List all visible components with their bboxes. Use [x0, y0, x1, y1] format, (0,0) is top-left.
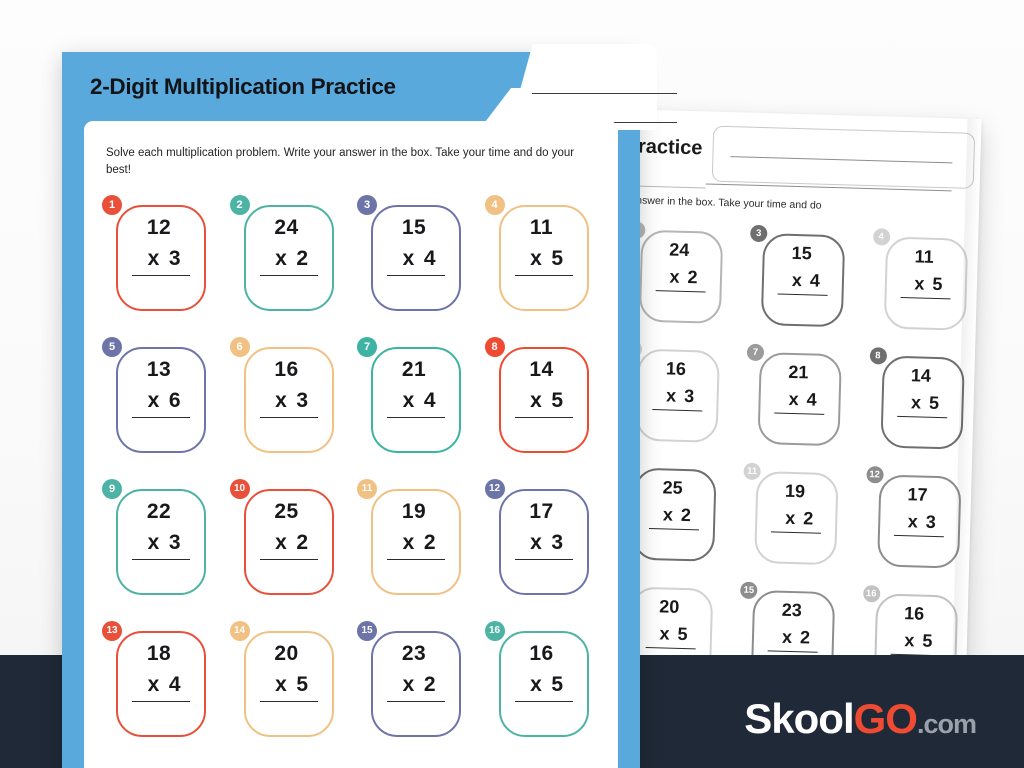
- multiply-sign-icon: x: [275, 531, 287, 554]
- logo-text-go: GO: [854, 695, 917, 742]
- background-multiplier-row: x5: [645, 623, 696, 649]
- multiplier: 4: [424, 389, 436, 412]
- background-multiplier: 5: [677, 624, 688, 644]
- multiplicand: 12: [147, 216, 175, 240]
- problem-number-badge: 13: [102, 621, 122, 641]
- problem-cell: 24x22: [226, 195, 354, 315]
- instructions-text: Solve each multiplication problem. Write…: [106, 145, 576, 178]
- multiplier-row: x5: [515, 247, 573, 276]
- problem-number-badge: 11: [357, 479, 377, 499]
- problem-expression: 16x5: [499, 631, 589, 737]
- multiplier-row: x4: [387, 389, 445, 418]
- background-multiplicand: 15: [791, 243, 816, 265]
- multiply-sign-icon: x: [148, 247, 160, 270]
- multiplier: 3: [169, 531, 181, 554]
- background-multiplier-row: x2: [771, 507, 822, 533]
- multiplier: 2: [296, 531, 308, 554]
- problem-expression: 25x2: [244, 489, 334, 595]
- multiplicand: 17: [529, 500, 557, 524]
- logo-text-com: .com: [917, 709, 976, 739]
- multiplicand: 18: [147, 642, 175, 666]
- background-multiplier-row: x4: [778, 270, 829, 296]
- worksheet-body-card: Solve each multiplication problem. Write…: [84, 121, 618, 768]
- multiplicand: 23: [402, 642, 430, 666]
- problem-expression: 23x2: [371, 631, 461, 737]
- background-multiply-sign-icon: x: [782, 627, 793, 647]
- background-multiply-sign-icon: x: [904, 630, 915, 650]
- background-multiply-sign-icon: x: [911, 392, 922, 412]
- multiply-sign-icon: x: [275, 389, 287, 412]
- problem-cell: 19x211: [353, 479, 481, 599]
- problem-number-badge: 4: [485, 195, 505, 215]
- problem-number-badge: 15: [357, 621, 377, 641]
- background-problem-expression: 25x2: [632, 468, 717, 562]
- background-multiplier: 5: [922, 631, 933, 651]
- background-problem-expression: 24x2: [638, 230, 723, 324]
- background-multiplier: 2: [681, 505, 692, 525]
- background-multiplier-row: x5: [890, 630, 941, 656]
- problem-cell: 12x31: [98, 195, 226, 315]
- background-multiplier: 5: [932, 274, 943, 294]
- background-multiplier-row: x4: [774, 388, 825, 414]
- multiply-sign-icon: x: [148, 531, 160, 554]
- multiplier: 5: [551, 673, 563, 696]
- multiply-sign-icon: x: [403, 531, 415, 554]
- problem-cell: 25x210: [226, 479, 354, 599]
- multiply-sign-icon: x: [530, 247, 542, 270]
- problem-expression: 11x5: [499, 205, 589, 311]
- multiplicand: 20: [274, 642, 302, 666]
- background-multiply-sign-icon: x: [792, 270, 803, 290]
- problem-number-badge: 12: [485, 479, 505, 499]
- problem-expression: 19x2: [371, 489, 461, 595]
- multiplier: 3: [551, 531, 563, 554]
- background-problem-cell: 23x215: [735, 581, 860, 664]
- multiplier: 2: [424, 531, 436, 554]
- multiplier-row: x3: [260, 389, 318, 418]
- background-problem-expression: 15x4: [761, 233, 846, 327]
- multiply-sign-icon: x: [403, 247, 415, 270]
- multiply-sign-icon: x: [275, 247, 287, 270]
- background-problem-expression: 23x2: [751, 590, 836, 665]
- background-multiplier-row: x5: [897, 392, 948, 418]
- background-problem-cell: 19x211: [738, 463, 863, 566]
- background-multiply-sign-icon: x: [788, 389, 799, 409]
- multiply-sign-icon: x: [148, 673, 160, 696]
- background-multiplier-row: x3: [652, 385, 703, 411]
- background-multiplier: 2: [687, 267, 698, 287]
- problem-cell: 20x514: [226, 621, 354, 741]
- multiplier: 2: [424, 673, 436, 696]
- worksheet-header: 2-Digit Multiplication Practice: [62, 52, 640, 130]
- background-problem-expression: 17x3: [877, 474, 962, 568]
- problem-cell: 11x54: [481, 195, 609, 315]
- problem-number-badge: 6: [230, 337, 250, 357]
- multiplicand: 11: [530, 216, 557, 240]
- background-multiplicand: 11: [914, 246, 938, 268]
- background-problem-number-badge: 12: [866, 466, 883, 483]
- background-multiplicand: 25: [662, 477, 687, 499]
- background-multiplier: 5: [929, 393, 940, 413]
- multiplier-row: x2: [387, 673, 445, 702]
- problem-expression: 22x3: [116, 489, 206, 595]
- problem-cell: 16x516: [481, 621, 609, 741]
- multiplier-row: x5: [515, 673, 573, 702]
- problem-number-badge: 2: [230, 195, 250, 215]
- problem-cell: 23x215: [353, 621, 481, 741]
- problem-number-badge: 14: [230, 621, 250, 641]
- multiplier: 5: [551, 389, 563, 412]
- background-instructions: ion problem. Write your answer in the bo…: [606, 191, 981, 217]
- multiply-sign-icon: x: [530, 389, 542, 412]
- multiplier: 2: [296, 247, 308, 270]
- problem-expression: 16x3: [244, 347, 334, 453]
- background-problem-expression: 11x5: [883, 237, 968, 331]
- multiplier-row: x5: [260, 673, 318, 702]
- background-multiply-sign-icon: x: [907, 511, 918, 531]
- problem-cell: 13x65: [98, 337, 226, 457]
- problem-number-badge: 1: [102, 195, 122, 215]
- multiply-sign-icon: x: [530, 531, 542, 554]
- multiply-sign-icon: x: [275, 673, 287, 696]
- background-problem-number-badge: 16: [863, 585, 880, 602]
- multiplicand: 14: [529, 358, 557, 382]
- multiplier-row: x3: [132, 247, 190, 276]
- problem-expression: 13x6: [116, 347, 206, 453]
- problem-expression: 17x3: [499, 489, 589, 595]
- background-multiplicand: 24: [669, 239, 694, 261]
- page-title: 2-Digit Multiplication Practice: [90, 74, 396, 100]
- problem-cell: 15x43: [353, 195, 481, 315]
- problem-expression: 14x5: [499, 347, 589, 453]
- background-multiplier: 2: [800, 627, 811, 647]
- name-field-line[interactable]: [532, 93, 677, 94]
- multiply-sign-icon: x: [148, 389, 160, 412]
- background-multiplicand: 16: [666, 358, 691, 380]
- background-problem-expression: 21x4: [757, 352, 842, 446]
- background-multiplicand: 23: [781, 600, 806, 622]
- background-multiplier-row: x2: [768, 626, 819, 652]
- problem-number-badge: 16: [485, 621, 505, 641]
- multiply-sign-icon: x: [530, 673, 542, 696]
- multiplier-row: x5: [515, 389, 573, 418]
- problem-expression: 18x4: [116, 631, 206, 737]
- multiplicand: 25: [274, 500, 302, 524]
- background-problem-cell: 11x54: [867, 228, 981, 331]
- background-multiplier: 2: [803, 508, 814, 528]
- background-multiplier-row: x2: [655, 266, 706, 292]
- multiplier: 5: [296, 673, 308, 696]
- background-multiplicand: 16: [904, 603, 929, 625]
- background-multiplier: 4: [810, 270, 821, 290]
- multiplier-row: x4: [387, 247, 445, 276]
- multiplicand: 13: [147, 358, 175, 382]
- problem-expression: 21x4: [371, 347, 461, 453]
- multiplicand: 16: [529, 642, 557, 666]
- problem-cell: 22x39: [98, 479, 226, 599]
- background-problem-cell: 24x22: [622, 221, 747, 324]
- multiplier: 6: [169, 389, 181, 412]
- multiplicand: 24: [274, 216, 302, 240]
- background-problem-expression: 20x5: [628, 587, 713, 665]
- background-multiplicand: 19: [785, 481, 810, 503]
- problem-cell: 17x312: [481, 479, 609, 599]
- multiplier-row: x4: [132, 673, 190, 702]
- background-multiply-sign-icon: x: [659, 623, 670, 643]
- background-problem-number-badge: 4: [872, 228, 889, 245]
- background-multiplicand: 20: [659, 596, 684, 618]
- background-worksheet-sheet: tiplication Practice ion problem. Write …: [606, 109, 981, 665]
- background-multiply-sign-icon: x: [914, 273, 925, 293]
- background-problem-expression: 19x2: [754, 471, 839, 565]
- multiplicand: 21: [402, 358, 430, 382]
- problem-expression: 12x3: [116, 205, 206, 311]
- multiplier-row: x2: [260, 247, 318, 276]
- problem-cell: 16x36: [226, 337, 354, 457]
- background-problem-cell: 15x43: [745, 225, 870, 328]
- problem-expression: 20x5: [244, 631, 334, 737]
- multiplicand: 22: [147, 500, 175, 524]
- background-multiply-sign-icon: x: [663, 504, 674, 524]
- background-multiplier: 4: [806, 389, 817, 409]
- background-problem-expression: 14x5: [880, 355, 965, 449]
- problem-number-badge: 7: [357, 337, 377, 357]
- multiply-sign-icon: x: [403, 673, 415, 696]
- background-multiplicand: 17: [907, 484, 932, 506]
- multiplier-row: x3: [515, 531, 573, 560]
- background-multiplicand: 21: [788, 362, 813, 384]
- background-multiplier: 3: [925, 512, 936, 532]
- problem-cell: 18x413: [98, 621, 226, 741]
- multiplier: 5: [551, 247, 563, 270]
- background-multiplier-row: x5: [900, 273, 951, 299]
- problem-cell: 14x58: [481, 337, 609, 457]
- multiplier-row: x2: [387, 531, 445, 560]
- main-worksheet-sheet: 2-Digit Multiplication Practice Solve ea…: [62, 52, 640, 768]
- background-multiplier-row: x3: [893, 511, 944, 537]
- background-problem-grid: 12x3124x2215x4311x5413x6516x3621x4714x58…: [606, 218, 981, 665]
- background-problem-cell: 21x47: [741, 344, 866, 447]
- multiplier-row: x3: [132, 531, 190, 560]
- problem-number-badge: 3: [357, 195, 377, 215]
- problem-grid: 12x3124x2215x4311x5413x6516x3621x4714x58…: [98, 195, 608, 741]
- background-problem-number-badge: 8: [869, 347, 886, 364]
- multiplicand: 16: [274, 358, 302, 382]
- problem-number-badge: 5: [102, 337, 122, 357]
- problem-expression: 15x4: [371, 205, 461, 311]
- multiplicand: 19: [402, 500, 430, 524]
- multiplicand: 15: [402, 216, 430, 240]
- multiplier: 4: [424, 247, 436, 270]
- multiplier-row: x2: [260, 531, 318, 560]
- multiplier: 3: [169, 247, 181, 270]
- background-multiplier-row: x2: [648, 504, 699, 530]
- multiply-sign-icon: x: [403, 389, 415, 412]
- logo-text-skool: Skool: [744, 695, 853, 742]
- multiplier-row: x6: [132, 389, 190, 418]
- background-multiply-sign-icon: x: [666, 385, 677, 405]
- multiplier: 4: [169, 673, 181, 696]
- background-multiply-sign-icon: x: [785, 508, 796, 528]
- multiplier: 3: [296, 389, 308, 412]
- problem-number-badge: 8: [485, 337, 505, 357]
- background-multiplicand: 14: [911, 365, 936, 387]
- background-multiply-sign-icon: x: [669, 266, 680, 286]
- problem-number-badge: 9: [102, 479, 122, 499]
- problem-cell: 21x47: [353, 337, 481, 457]
- skoolgo-logo[interactable]: SkoolGO.com: [744, 698, 976, 740]
- background-multiplier: 3: [684, 386, 695, 406]
- problem-number-badge: 10: [230, 479, 250, 499]
- background-problem-expression: 16x3: [635, 349, 720, 443]
- problem-expression: 24x2: [244, 205, 334, 311]
